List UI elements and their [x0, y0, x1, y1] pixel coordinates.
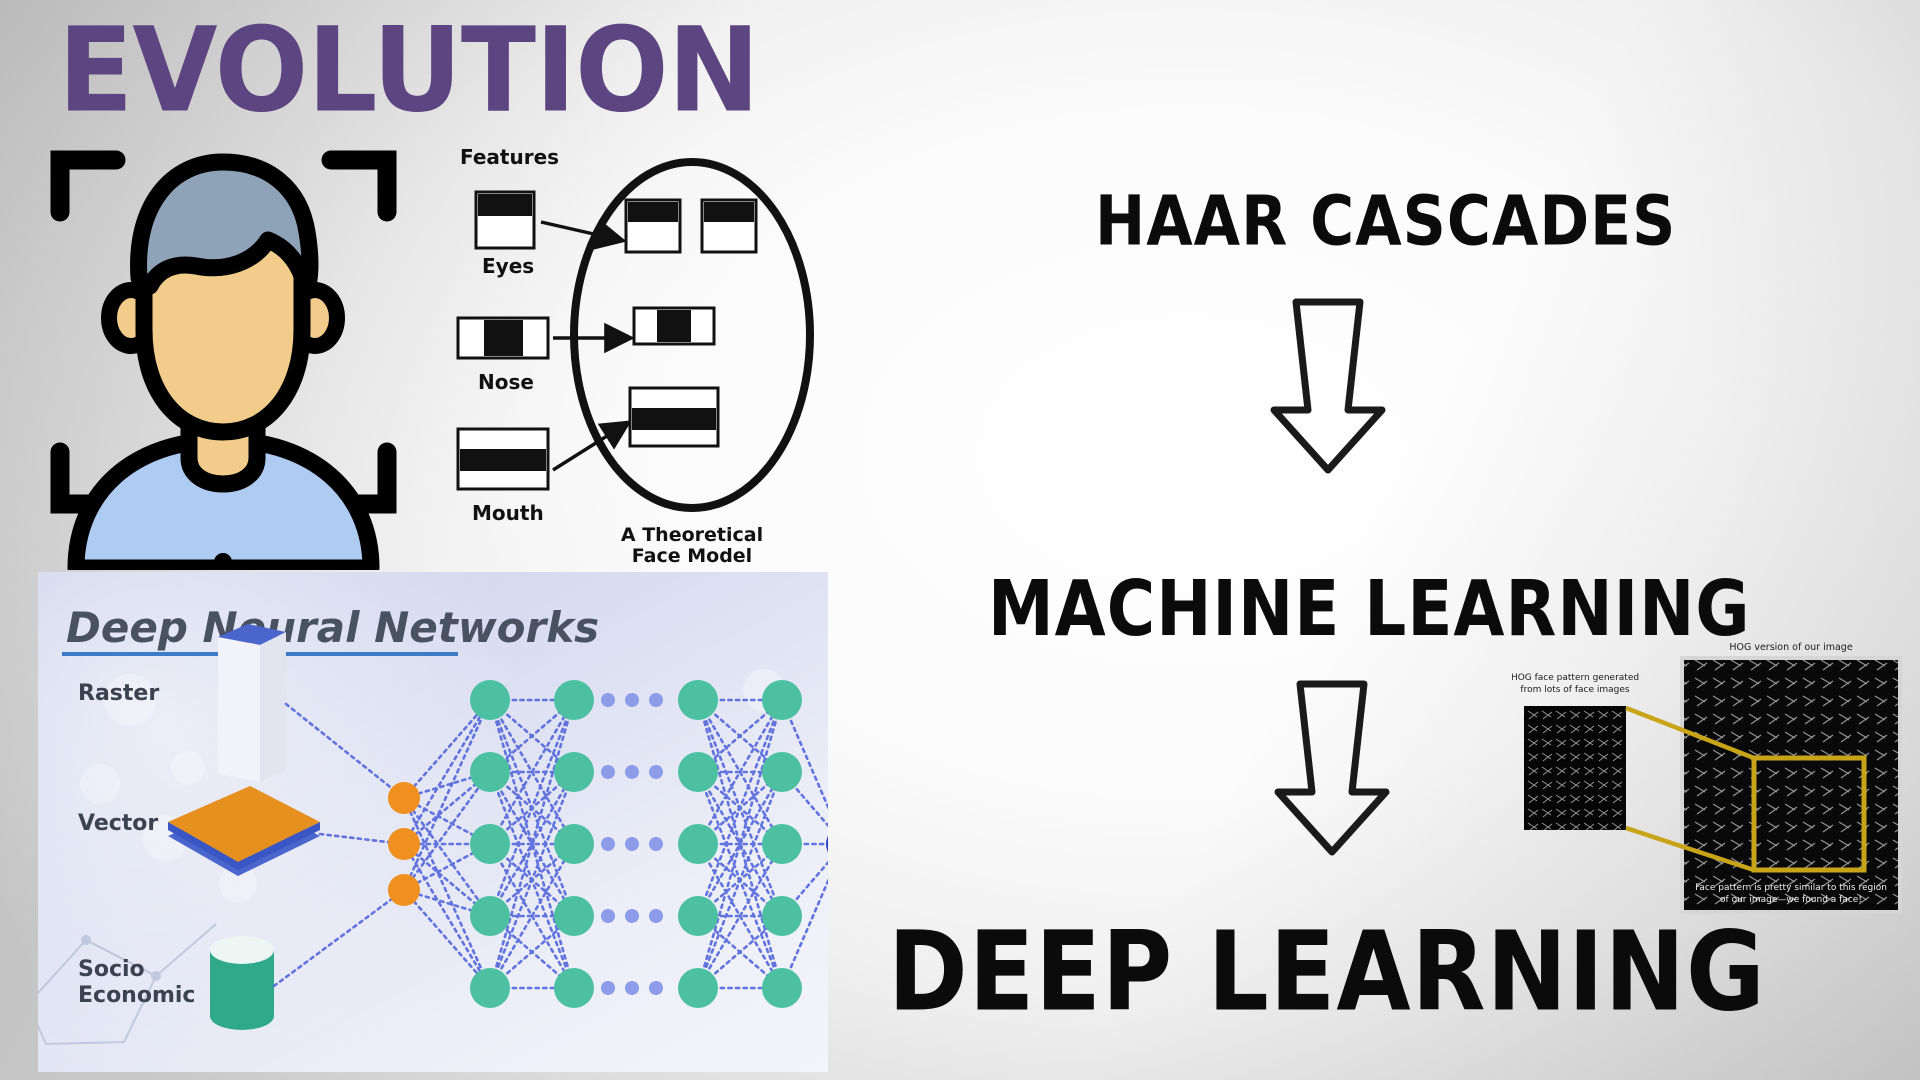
feature-label-nose: Nose	[478, 370, 534, 394]
features-label: Features	[460, 145, 559, 169]
stage-label-deep-learning: DEEP LEARNING	[888, 908, 1766, 1036]
face-model-caption-line1: A Theoretical	[621, 524, 763, 546]
input-label-socio-line1: Socio	[78, 957, 145, 982]
feature-label-mouth: Mouth	[472, 501, 544, 525]
stage-label-haar-cascades: HAAR CASCADES	[1095, 182, 1676, 262]
hog-bottom-caption-line1: Face pattern is pretty similar to this r…	[1695, 883, 1887, 893]
input-icon-raster	[218, 624, 286, 782]
feature-swatch-eyes	[476, 192, 534, 248]
network-input-nodes	[388, 782, 420, 906]
model-feature-mouth	[630, 388, 718, 446]
page-title: EVOLUTION	[58, 2, 759, 139]
input-label-socio-line2: Economic	[78, 983, 195, 1008]
feature-swatch-nose	[458, 318, 548, 358]
hog-left-caption-line2: from lots of face images	[1520, 685, 1629, 695]
hog-left-caption-line1: HOG face pattern generated	[1512, 673, 1639, 683]
model-feature-nose	[634, 308, 714, 344]
input-icon-vector	[168, 786, 320, 876]
slide-canvas: EVOLUTION	[0, 0, 1920, 1080]
feature-swatch-mouth	[458, 429, 548, 489]
face-detection-avatar	[46, 140, 401, 570]
input-icon-socio-economic	[210, 936, 274, 1030]
hog-left-image	[1524, 706, 1626, 830]
hog-bottom-caption-line2: of our image—we found a face!	[1720, 895, 1862, 905]
layer-ellipsis	[601, 693, 663, 995]
deep-neural-networks-panel: Deep Neural Networks Raster Vector	[38, 572, 828, 1072]
input-label-vector: Vector	[78, 811, 158, 836]
dnn-panel-title: Deep Neural Networks	[66, 603, 599, 652]
model-feature-eye-left	[626, 200, 680, 252]
hog-right-caption: HOG version of our image	[1729, 642, 1852, 653]
model-feature-eye-right	[702, 200, 756, 252]
network-edges	[274, 700, 828, 988]
input-label-raster: Raster	[78, 681, 159, 706]
hog-illustration: HOG version of our image HOG face patter…	[1512, 638, 1912, 918]
down-arrow-ml-to-dl	[1272, 678, 1392, 863]
network-output-node	[826, 826, 828, 862]
face-model-caption-line2: Face Model	[632, 545, 752, 567]
haar-feature-diagram: Features Eyes Nose Mouth	[440, 140, 870, 570]
feature-label-eyes: Eyes	[482, 254, 534, 278]
down-arrow-haar-to-ml	[1268, 296, 1388, 481]
